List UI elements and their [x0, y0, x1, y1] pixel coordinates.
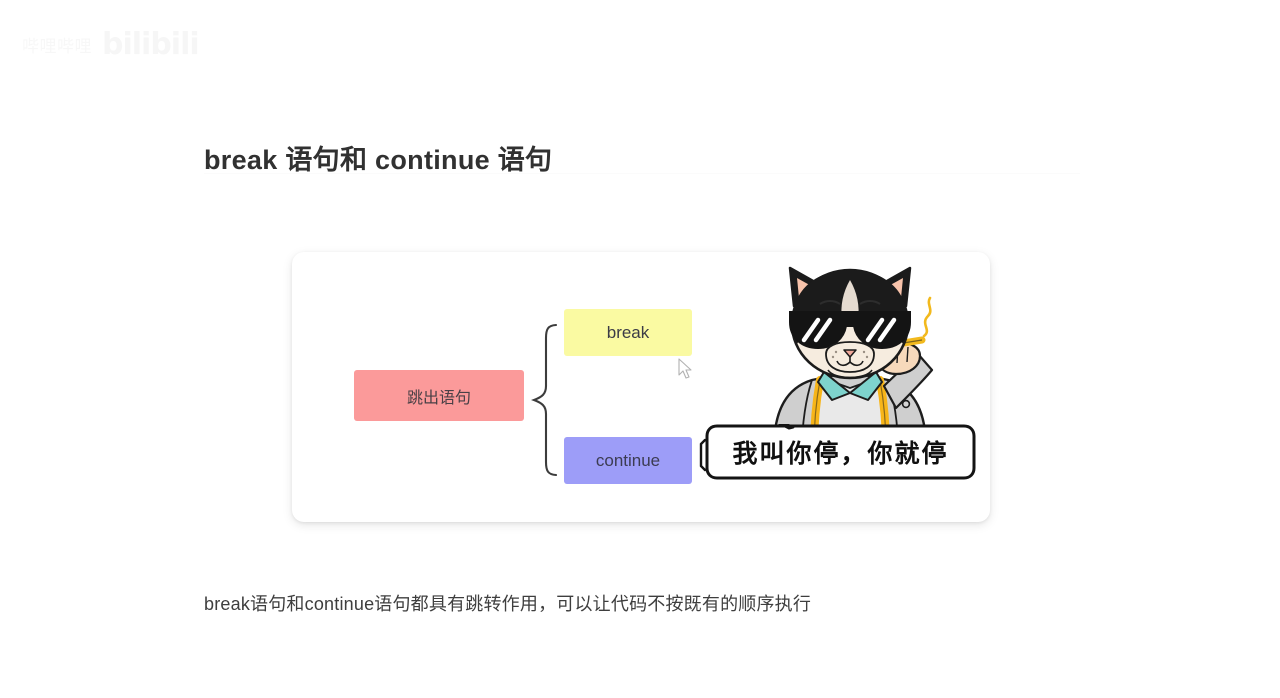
bilibili-logo-icon: bilibili [102, 27, 199, 62]
sunglasses-cat-illustration [760, 262, 940, 450]
page-title: break 语句和 continue 语句 [204, 138, 552, 177]
diagram-node-break-label: break [607, 323, 650, 343]
diagram-node-continue-label: continue [596, 451, 660, 471]
diagram-node-root-label: 跳出语句 [407, 384, 471, 408]
watermark-text: 哔哩哔哩 [22, 32, 92, 57]
diagram-node-continue: continue [564, 437, 692, 484]
diagram-node-root: 跳出语句 [354, 370, 524, 421]
illustration-card: 跳出语句 break continue [292, 252, 990, 522]
diagram-node-break: break [564, 309, 692, 356]
bilibili-watermark: 哔哩哔哩 bilibili [22, 18, 282, 70]
cat-head [790, 268, 910, 378]
speech-bubble-text: 我叫你停，你就停 [697, 424, 984, 482]
title-divider [204, 173, 1080, 174]
caption-text: break语句和continue语句都具有跳转作用，可以让代码不按既有的顺序执行 [204, 590, 811, 616]
curly-brace-connector [530, 322, 564, 478]
